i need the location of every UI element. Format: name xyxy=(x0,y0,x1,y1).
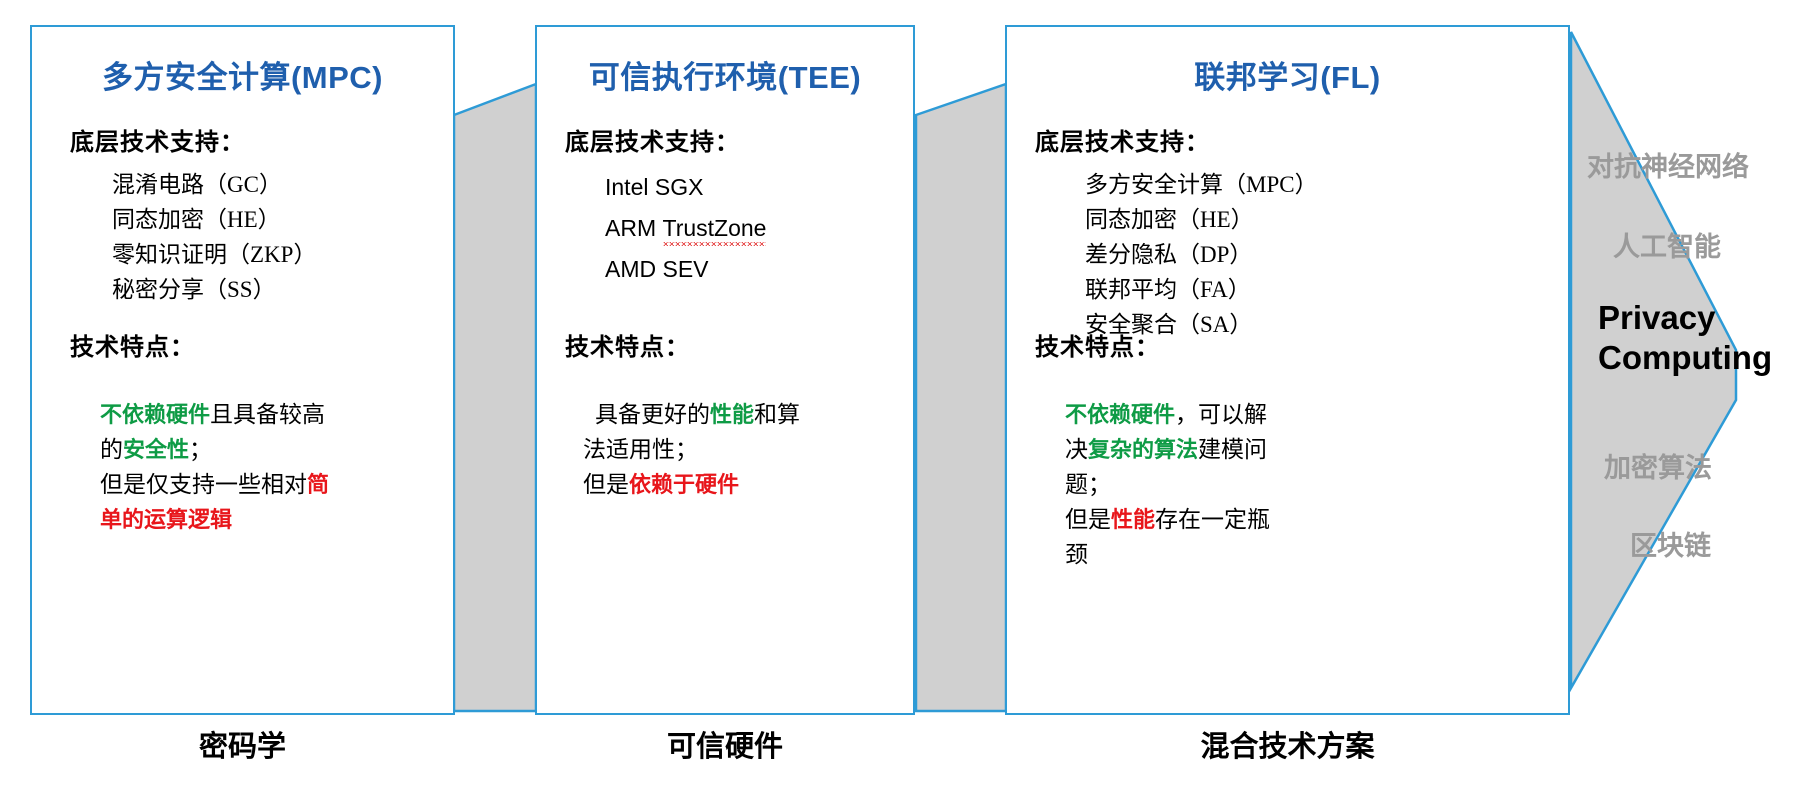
panel-fl[interactable]: 联邦学习(FL) 底层技术支持： 多方安全计算（MPC） 同态加密（HE） 差分… xyxy=(1005,25,1570,715)
feature-span-plain: 题； xyxy=(1065,472,1111,497)
arrow-label-2: 加密算法 xyxy=(1604,446,1712,485)
feature-span-green: 安全性 xyxy=(123,437,189,462)
feature-span-plain: 但是 xyxy=(583,472,629,497)
panel-fl-title: 联邦学习(FL) xyxy=(1007,52,1568,97)
panel-fl-support-heading: 底层技术支持： xyxy=(1035,122,1210,157)
feature-span-red: 简 xyxy=(307,472,329,497)
feature-span-plain: 颈 xyxy=(1065,542,1088,567)
panel-tee-feature-heading: 技术特点： xyxy=(565,327,690,362)
list-item: 混淆电路（GC） xyxy=(112,167,316,202)
panel-fl-support-list: 多方安全计算（MPC） 同态加密（HE） 差分隐私（DP） 联邦平均（FA） 安… xyxy=(1085,167,1318,342)
spellcheck-word: TrustZone xyxy=(663,215,767,246)
feature-line: 具备更好的性能和算 xyxy=(595,397,800,432)
panel-tee-feature-text: 具备更好的性能和算 法适用性； 但是依赖于硬件 xyxy=(595,397,800,502)
list-item: 差分隐私（DP） xyxy=(1085,237,1318,272)
feature-line: 但是性能存在一定瓶 xyxy=(1065,502,1270,537)
feature-span-plain: 但是仅支持一些相对 xyxy=(100,472,307,497)
feature-span-plain: 的 xyxy=(100,437,123,462)
feature-span-plain: 存在一定瓶 xyxy=(1155,507,1270,532)
list-item: 同态加密（HE） xyxy=(112,202,316,237)
feature-span-red: 依赖于硬件 xyxy=(629,472,739,497)
feature-line: 不依赖硬件，可以解 xyxy=(1065,397,1270,432)
panel-mpc-feature-heading: 技术特点： xyxy=(70,327,195,362)
arrow-label-0: 对抗神经网络 xyxy=(1587,145,1749,184)
feature-line: 不依赖硬件且具备较高 xyxy=(100,397,329,432)
feature-line: 法适用性； xyxy=(583,432,800,467)
feature-span-green: 复杂的算法 xyxy=(1088,437,1198,462)
feature-span-red: 单的运算逻辑 xyxy=(100,507,232,532)
list-item: 秘密分享（SS） xyxy=(112,272,316,307)
arrow-center-line-1: Computing xyxy=(1598,338,1772,378)
feature-line: 题； xyxy=(1065,467,1270,502)
feature-span-plain: ，可以解 xyxy=(1175,402,1267,427)
diagram-canvas: 多方安全计算(MPC) 底层技术支持： 混淆电路（GC） 同态加密（HE） 零知… xyxy=(0,0,1814,808)
feature-span-plain: 但是 xyxy=(1065,507,1111,532)
list-item: 零知识证明（ZKP） xyxy=(112,237,316,272)
feature-span-plain: 和算 xyxy=(754,402,800,427)
arrow-center-text: Privacy Computing xyxy=(1598,298,1772,378)
list-item: Intel SGX xyxy=(605,167,766,208)
feature-span-red: 性能 xyxy=(1111,507,1155,532)
feature-span-plain: 具备更好的 xyxy=(595,402,710,427)
panel-fl-footer: 混合技术方案 xyxy=(1005,723,1570,765)
panel-mpc-title: 多方安全计算(MPC) xyxy=(32,52,453,97)
feature-span-green: 不依赖硬件 xyxy=(100,402,210,427)
feature-span-plain: 建模问 xyxy=(1198,437,1267,462)
panel-tee-title: 可信执行环境(TEE) xyxy=(537,52,913,97)
arrow-label-3: 区块链 xyxy=(1630,524,1711,563)
feature-line: 决复杂的算法建模问 xyxy=(1065,432,1270,467)
list-item: 联邦平均（FA） xyxy=(1085,272,1318,307)
connector-shape-1 xyxy=(450,80,540,715)
arrow-label-1: 人工智能 xyxy=(1613,225,1721,264)
feature-span-plain: 法适用性； xyxy=(583,437,698,462)
feature-span-plain: 决 xyxy=(1065,437,1088,462)
panel-mpc-support-heading: 底层技术支持： xyxy=(70,122,245,157)
list-item: AMD SEV xyxy=(605,249,766,290)
list-item: 同态加密（HE） xyxy=(1085,202,1318,237)
list-item: ARM TrustZone xyxy=(605,208,766,249)
arrow-center-line-0: Privacy xyxy=(1598,298,1772,338)
list-item: 多方安全计算（MPC） xyxy=(1085,167,1318,202)
panel-mpc-support-list: 混淆电路（GC） 同态加密（HE） 零知识证明（ZKP） 秘密分享（SS） xyxy=(112,167,316,307)
panel-tee-support-list: Intel SGX ARM TrustZone AMD SEV xyxy=(605,167,766,290)
feature-span-plain: ； xyxy=(189,437,212,462)
feature-line: 单的运算逻辑 xyxy=(100,502,329,537)
panel-fl-feature-text: 不依赖硬件，可以解 决复杂的算法建模问 题； 但是性能存在一定瓶 颈 xyxy=(1065,397,1270,572)
panel-mpc-feature-text: 不依赖硬件且具备较高 的安全性； 但是仅支持一些相对简 单的运算逻辑 xyxy=(100,397,329,537)
panel-fl-feature-heading: 技术特点： xyxy=(1035,327,1160,362)
feature-line: 但是仅支持一些相对简 xyxy=(100,467,329,502)
panel-tee-footer: 可信硬件 xyxy=(535,723,915,765)
panel-tee-support-heading: 底层技术支持： xyxy=(565,122,740,157)
feature-span-green: 不依赖硬件 xyxy=(1065,402,1175,427)
feature-line: 颈 xyxy=(1065,537,1270,572)
panel-mpc[interactable]: 多方安全计算(MPC) 底层技术支持： 混淆电路（GC） 同态加密（HE） 零知… xyxy=(30,25,455,715)
panel-tee[interactable]: 可信执行环境(TEE) 底层技术支持： Intel SGX ARM TrustZ… xyxy=(535,25,915,715)
connector-shape-2 xyxy=(912,80,1010,715)
feature-span-plain: 且具备较高 xyxy=(210,402,325,427)
feature-line: 但是依赖于硬件 xyxy=(583,467,800,502)
feature-span-green: 性能 xyxy=(710,402,754,427)
feature-line: 的安全性； xyxy=(100,432,329,467)
panel-mpc-footer: 密码学 xyxy=(30,723,455,765)
